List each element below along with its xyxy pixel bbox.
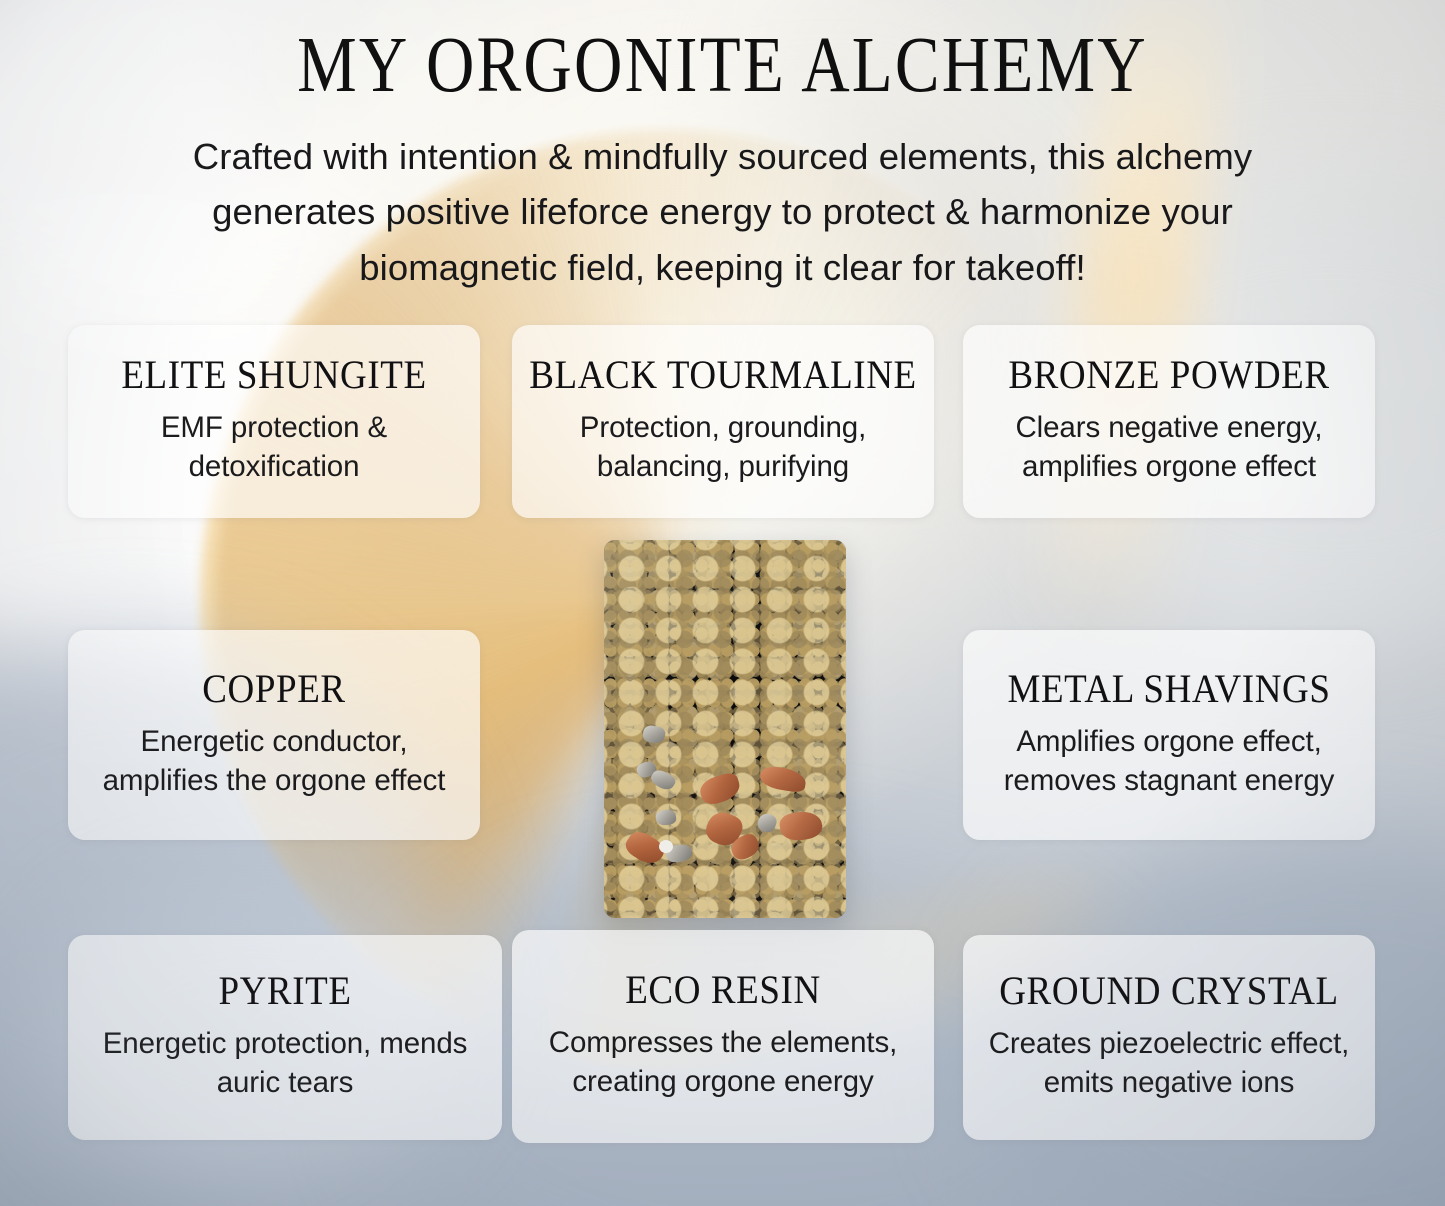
ingredient-description: Amplifies orgone effect, removes stagnan… [977,722,1361,800]
ingredient-description: Energetic protection, mends auric tears [82,1024,488,1102]
infographic-canvas: MY ORGONITE ALCHEMY Crafted with intenti… [0,0,1445,1206]
ingredient-card-eco-resin[interactable]: ECO RESIN Compresses the elements, creat… [512,930,934,1143]
ingredient-description: Clears negative energy, amplifies orgone… [977,408,1361,486]
page-title: MY ORGONITE ALCHEMY [0,26,1445,105]
ingredient-name: GROUND CRYSTAL [999,970,1339,1014]
ingredient-name: BLACK TOURMALINE [529,354,917,398]
ingredient-description: Compresses the elements, creating orgone… [526,1023,920,1101]
orgonite-product-image [604,540,846,918]
ingredient-card-bronze-powder[interactable]: BRONZE POWDER Clears negative energy, am… [963,325,1375,518]
ingredient-name: COPPER [202,668,345,712]
ingredient-description: Creates piezoelectric effect, emits nega… [977,1024,1361,1102]
page-subtitle: Crafted with intention & mindfully sourc… [115,129,1330,295]
ingredient-card-metal-shavings[interactable]: METAL SHAVINGS Amplifies orgone effect, … [963,630,1375,840]
ingredient-name: PYRITE [218,970,351,1014]
ingredient-name: METAL SHAVINGS [1007,668,1330,712]
ingredient-description: Energetic conductor, amplifies the orgon… [82,722,466,800]
ingredient-description: EMF protection & detoxification [82,408,466,486]
ingredient-description: Protection, grounding, balancing, purify… [526,408,920,486]
product-sheen [604,540,846,918]
ingredient-name: ECO RESIN [625,969,821,1013]
ingredient-card-ground-crystal[interactable]: GROUND CRYSTAL Creates piezoelectric eff… [963,935,1375,1140]
ingredient-card-tourmaline[interactable]: BLACK TOURMALINE Protection, grounding, … [512,325,934,518]
ingredient-card-copper[interactable]: COPPER Energetic conductor, amplifies th… [68,630,480,840]
ingredient-card-pyrite[interactable]: PYRITE Energetic protection, mends auric… [68,935,502,1140]
ingredient-name: ELITE SHUNGITE [121,354,426,398]
ingredient-name: BRONZE POWDER [1008,354,1329,398]
header: MY ORGONITE ALCHEMY Crafted with intenti… [0,0,1445,295]
ingredient-card-shungite[interactable]: ELITE SHUNGITE EMF protection & detoxifi… [68,325,480,518]
